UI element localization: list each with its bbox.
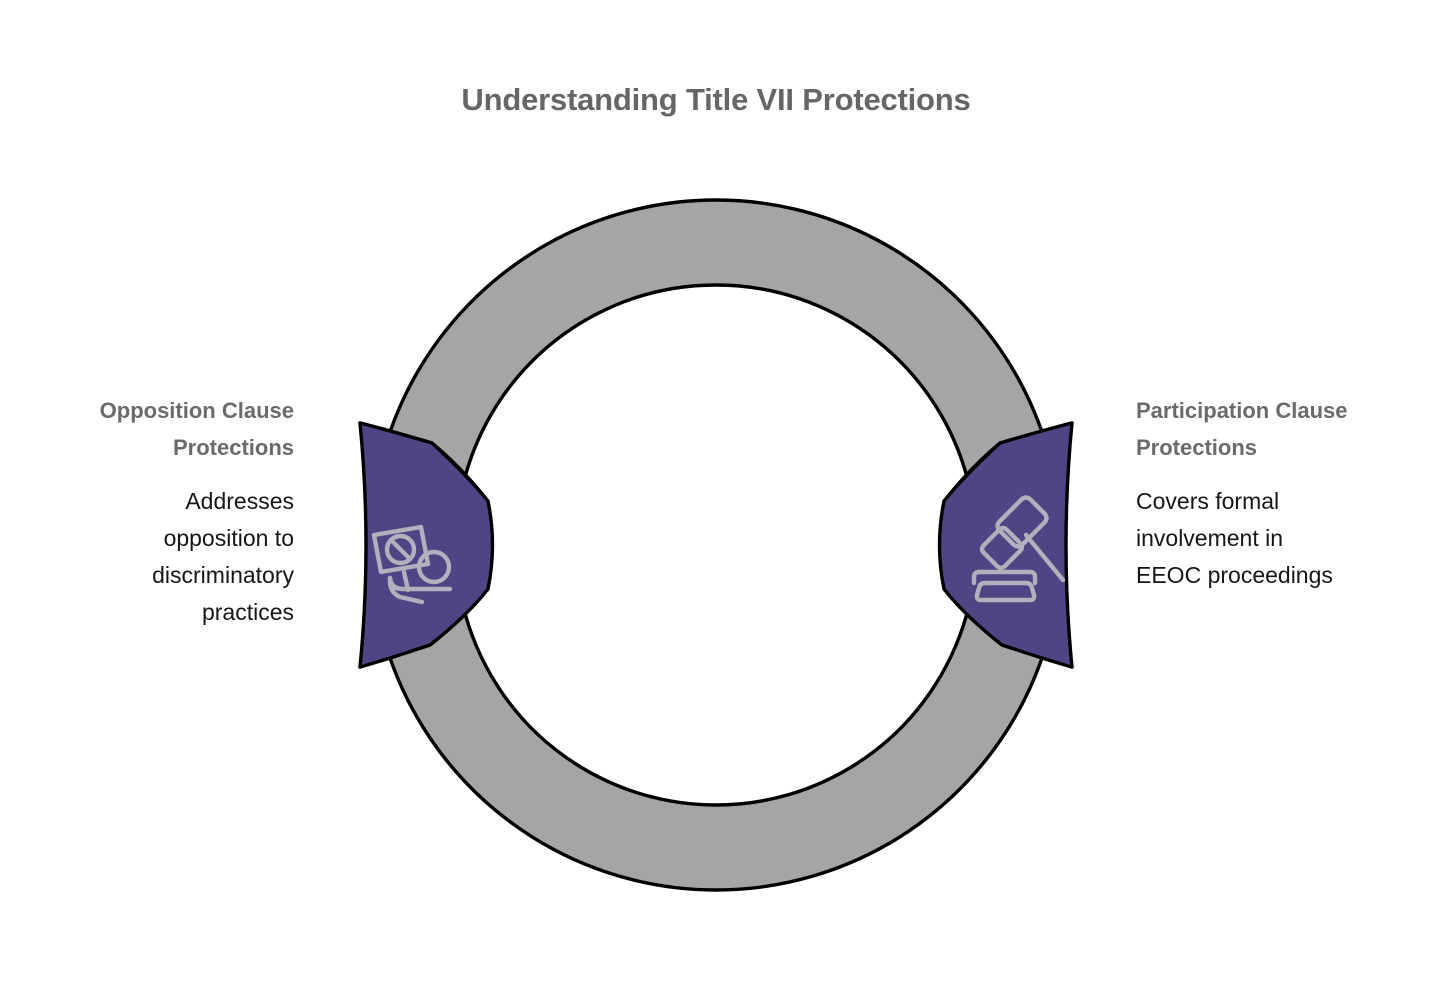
node-badge-opposition-clause[interactable] (360, 423, 493, 667)
cycle-ring-graphic (0, 0, 1432, 1002)
badge-face-right (940, 423, 1073, 667)
diagram-canvas: Understanding Title VII Protections Oppo… (0, 0, 1432, 1002)
node-badge-participation-clause[interactable] (940, 423, 1073, 667)
